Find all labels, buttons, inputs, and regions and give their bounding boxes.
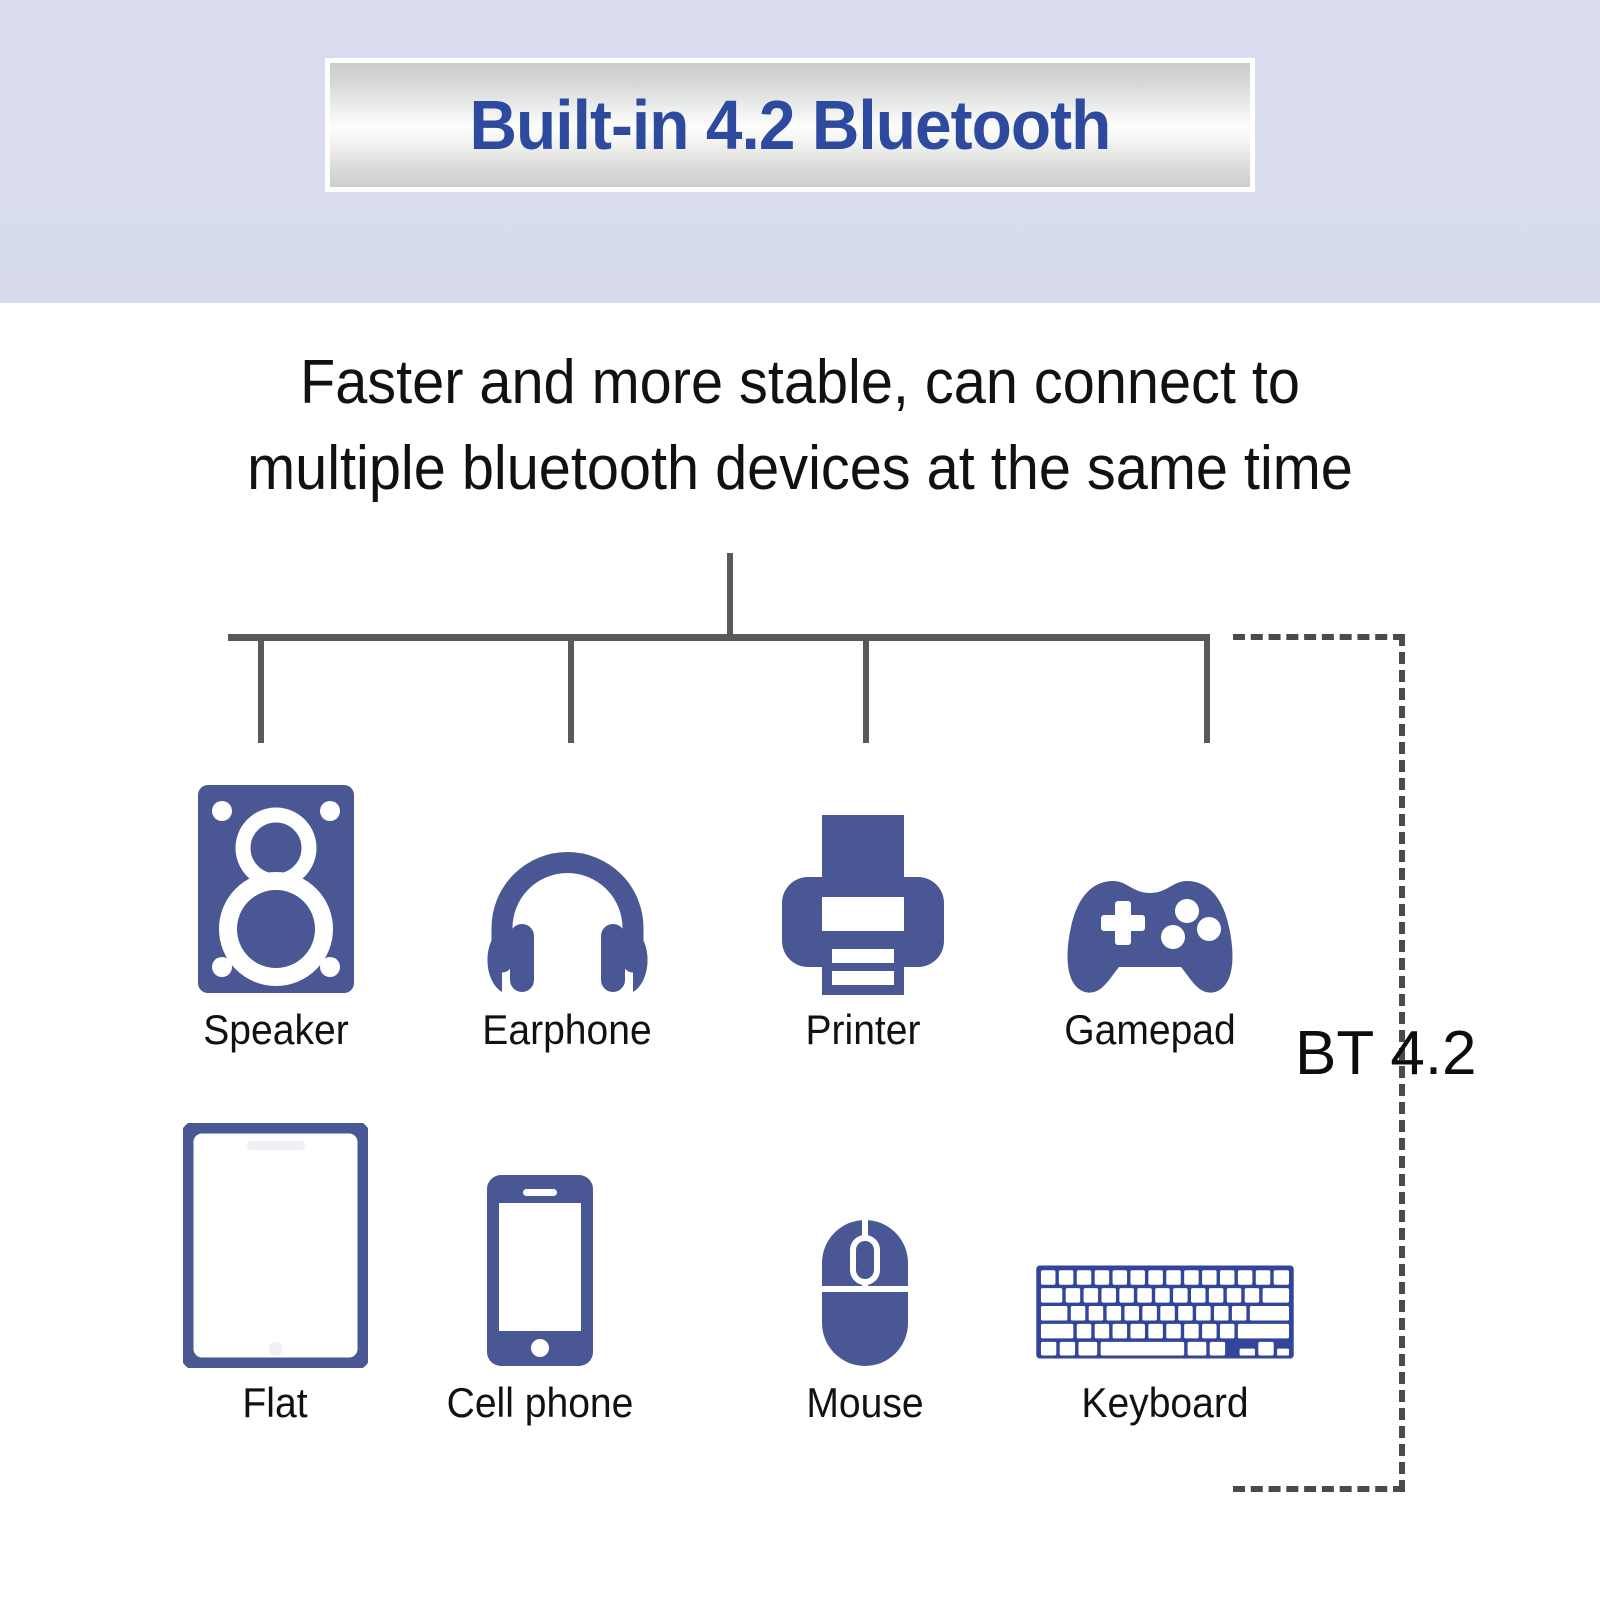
device-keyboard[interactable]: Keyboard bbox=[1035, 1120, 1295, 1424]
dashed-bracket-bottom bbox=[1233, 1486, 1405, 1492]
device-label: Printer bbox=[751, 1009, 974, 1051]
dashed-bracket-top bbox=[1233, 634, 1405, 640]
smartphone-icon bbox=[420, 1120, 660, 1368]
tree-drop-earphone bbox=[568, 639, 574, 743]
mouse-icon bbox=[745, 1120, 985, 1368]
device-label: Gamepad bbox=[1038, 1009, 1261, 1051]
title-banner: Built-in 4.2 Bluetooth bbox=[325, 58, 1255, 192]
bt-version-label: BT 4.2 bbox=[1295, 1023, 1477, 1085]
device-cell-phone[interactable]: Cell phone bbox=[420, 1120, 660, 1424]
device-label: Earphone bbox=[455, 1009, 678, 1051]
tree-drop-printer bbox=[863, 639, 869, 743]
tree-drop-speaker bbox=[258, 639, 264, 743]
page-title: Built-in 4.2 Bluetooth bbox=[470, 90, 1111, 160]
tree-horizontal-bar bbox=[228, 634, 1210, 641]
printer-icon bbox=[743, 780, 983, 995]
subtitle: Faster and more stable, can connect to m… bbox=[56, 340, 1544, 511]
device-row-bottom: Flat Cell phone Mouse bbox=[0, 1120, 1600, 1450]
tree-drop-gamepad bbox=[1204, 639, 1210, 743]
device-label: Mouse bbox=[753, 1382, 976, 1424]
keyboard-icon bbox=[1035, 1120, 1295, 1368]
device-mouse[interactable]: Mouse bbox=[745, 1120, 985, 1424]
device-label: Speaker bbox=[164, 1009, 387, 1051]
headphone-icon bbox=[447, 780, 687, 995]
header-band: Built-in 4.2 Bluetooth bbox=[0, 0, 1600, 303]
device-label: Keyboard bbox=[1044, 1382, 1286, 1424]
device-label: Flat bbox=[163, 1382, 386, 1424]
subtitle-line-1: Faster and more stable, can connect to bbox=[56, 340, 1544, 426]
speaker-icon bbox=[156, 780, 396, 995]
gamepad-icon bbox=[1030, 780, 1270, 995]
device-printer[interactable]: Printer bbox=[743, 780, 983, 1051]
tablet-icon bbox=[155, 1120, 395, 1368]
device-flat[interactable]: Flat bbox=[155, 1120, 395, 1424]
tree-stem bbox=[727, 553, 733, 641]
device-gamepad[interactable]: Gamepad bbox=[1030, 780, 1270, 1051]
device-earphone[interactable]: Earphone bbox=[447, 780, 687, 1051]
subtitle-line-2: multiple bluetooth devices at the same t… bbox=[56, 426, 1544, 512]
device-label: Cell phone bbox=[428, 1382, 651, 1424]
device-speaker[interactable]: Speaker bbox=[156, 780, 396, 1051]
